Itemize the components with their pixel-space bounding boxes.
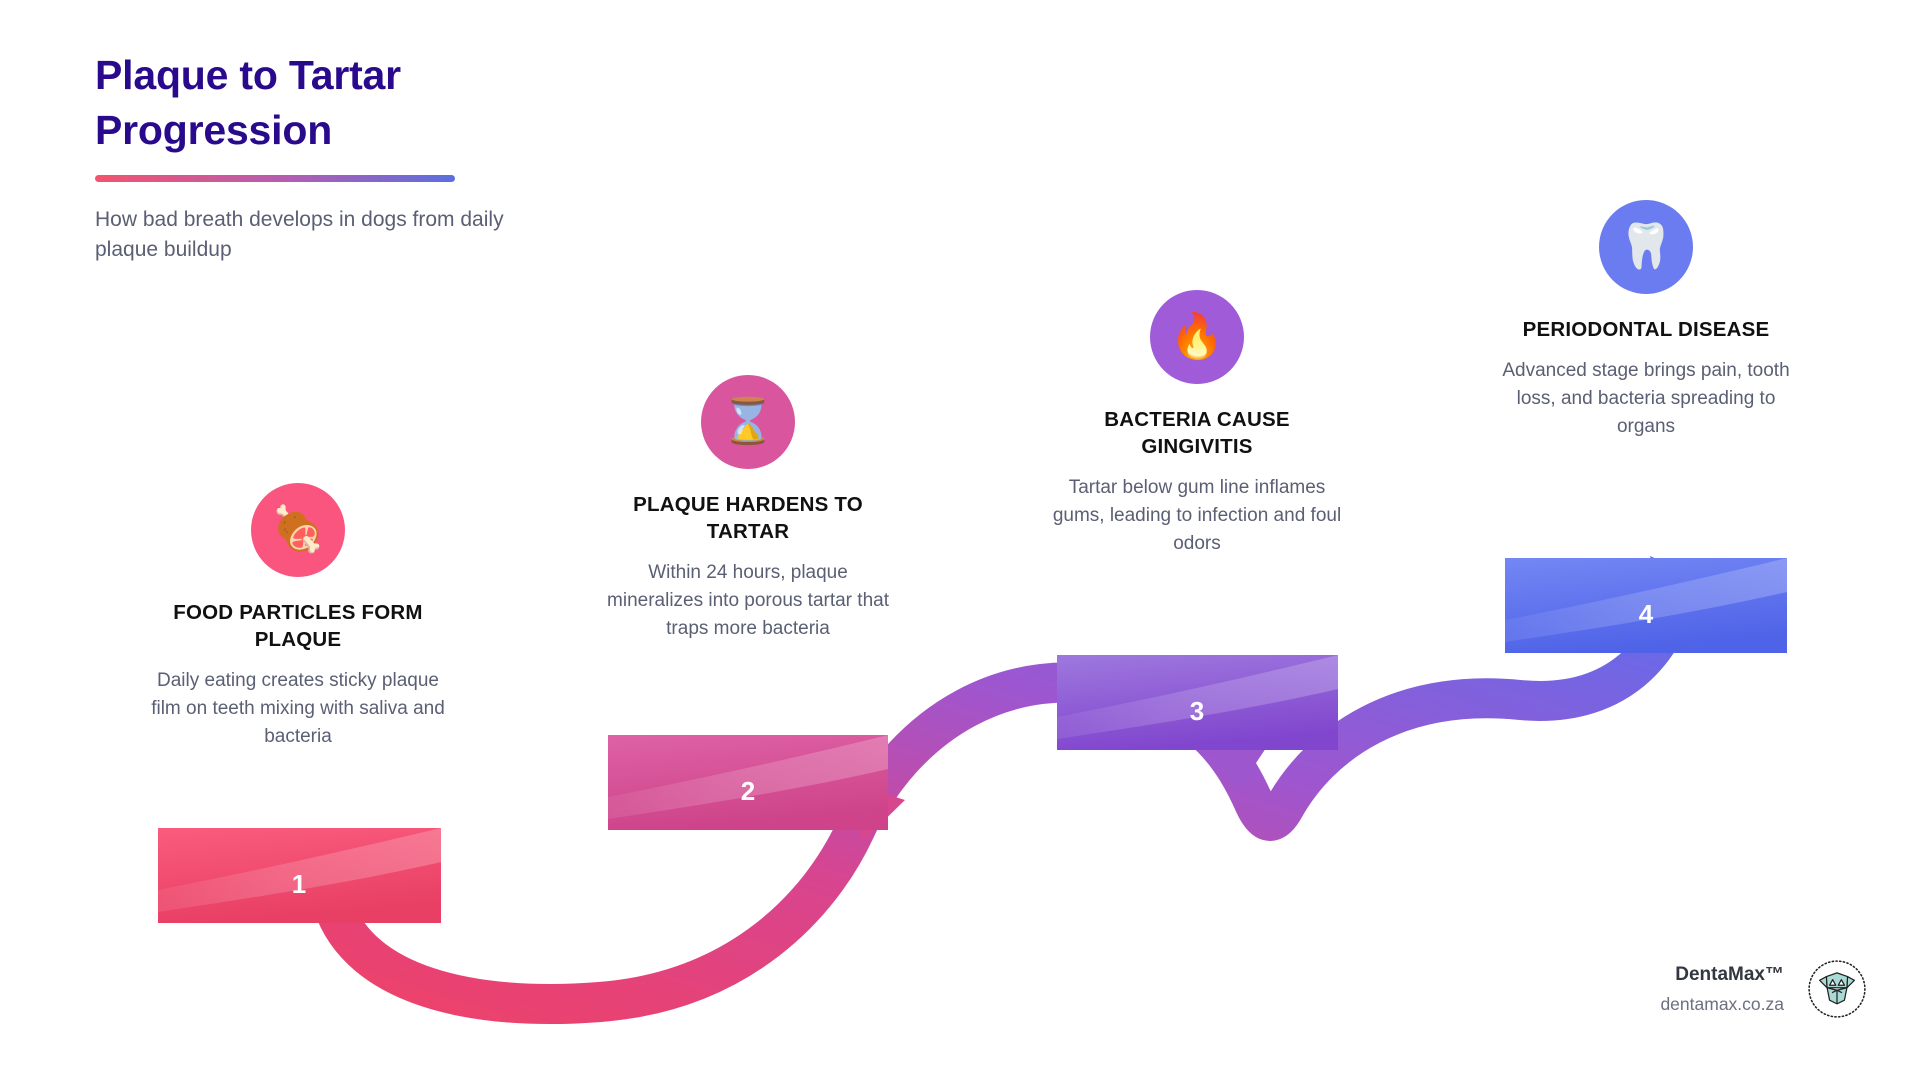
step-1-title: FOOD PARTICLES FORM PLAQUE	[148, 599, 448, 653]
dog-face-logo	[1806, 958, 1868, 1020]
brand-name: DentaMax™	[1660, 963, 1784, 988]
step-block-4[interactable]: 4	[1505, 558, 1787, 653]
step-3-title: BACTERIA CAUSE GINGIVITIS	[1047, 406, 1347, 460]
brand-footer: DentaMax™ dentamax.co.za	[1660, 958, 1868, 1020]
brand-text: DentaMax™ dentamax.co.za	[1660, 963, 1784, 1015]
brand-url[interactable]: dentamax.co.za	[1660, 994, 1784, 1015]
step-number-3-label: 3	[1190, 696, 1204, 726]
step-2-icon-glyph: ⌛	[721, 400, 776, 444]
step-1-description: Daily eating creates sticky plaque film …	[148, 667, 448, 751]
step-4-title: PERIODONTAL DISEASE	[1496, 316, 1796, 343]
step-4-icon-glyph: 🦷	[1619, 225, 1674, 269]
meat-on-bone-icon: 🍖	[251, 483, 345, 577]
step-2: ⌛ PLAQUE HARDENS TO TARTAR Within 24 hou…	[598, 375, 898, 643]
step-3-description: Tartar below gum line inflames gums, lea…	[1047, 474, 1347, 558]
step-block-3[interactable]: 3	[1057, 655, 1338, 750]
tooth-icon: 🦷	[1599, 200, 1693, 294]
fire-icon: 🔥	[1150, 290, 1244, 384]
step-2-title: PLAQUE HARDENS TO TARTAR	[598, 491, 898, 545]
step-4: 🦷 PERIODONTAL DISEASE Advanced stage bri…	[1496, 200, 1796, 441]
step-1-icon-glyph: 🍖	[271, 508, 326, 552]
step-2-description: Within 24 hours, plaque mineralizes into…	[598, 559, 898, 643]
step-3: 🔥 BACTERIA CAUSE GINGIVITIS Tartar below…	[1047, 290, 1347, 558]
step-number-2-label: 2	[741, 776, 755, 806]
step-number-1-label: 1	[292, 869, 306, 899]
infographic-canvas: Plaque to Tartar Progression How bad bre…	[0, 0, 1920, 1080]
step-block-1[interactable]: 1	[158, 828, 441, 923]
step-4-description: Advanced stage brings pain, tooth loss, …	[1496, 357, 1796, 441]
step-block-2[interactable]: 2	[608, 735, 888, 830]
hourglass-icon: ⌛	[701, 375, 795, 469]
step-3-icon-glyph: 🔥	[1170, 315, 1225, 359]
step-number-4-label: 4	[1639, 599, 1654, 629]
step-1: 🍖 FOOD PARTICLES FORM PLAQUE Daily eatin…	[148, 483, 448, 751]
